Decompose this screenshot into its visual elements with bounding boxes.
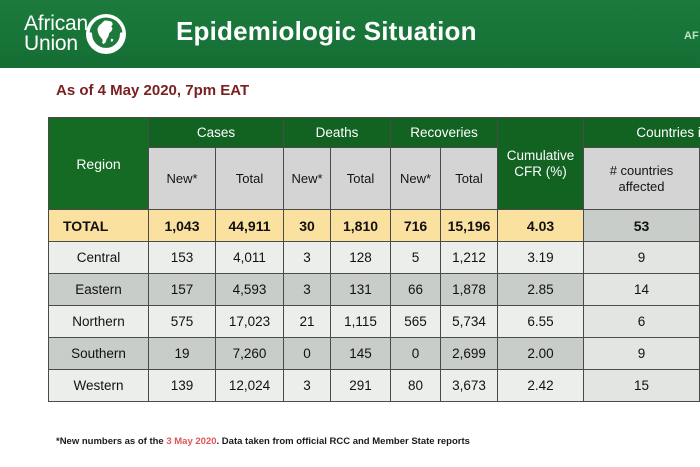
cell-recoveries-total: 15,196 <box>441 210 498 242</box>
africa-map-emblem-icon <box>84 12 128 56</box>
table-footnote: *New numbers as of the 3 May 2020. Data … <box>56 436 470 447</box>
cell-cfr: 2.00 <box>498 338 584 370</box>
cell-recoveries-total: 1,878 <box>441 274 498 306</box>
table-row[interactable]: Northern57517,023211,1155655,7346.556 <box>49 306 700 338</box>
cell-countries-affected: 53 <box>584 210 700 242</box>
cell-countries-affected: 14 <box>584 274 700 306</box>
col-header-recoveries-total: Total <box>441 148 498 210</box>
cell-cases-new: 139 <box>149 370 216 402</box>
cell-cfr: 2.85 <box>498 274 584 306</box>
cell-deaths-total: 145 <box>331 338 391 370</box>
african-union-logo: African Union <box>24 10 128 58</box>
cell-deaths-total: 128 <box>331 242 391 274</box>
cell-cases-total: 44,911 <box>216 210 284 242</box>
cell-region: Southern <box>49 338 149 370</box>
col-group-header-recoveries: Recoveries <box>391 118 498 148</box>
footnote-highlight-date: 3 May 2020 <box>166 436 216 447</box>
table-group-header-row: Region Cases Deaths Recoveries Cumulativ… <box>49 118 700 148</box>
table-row[interactable]: Western13912,0243291803,6732.4215 <box>49 370 700 402</box>
cell-deaths-new: 30 <box>284 210 331 242</box>
cell-recoveries-new: 80 <box>391 370 441 402</box>
table-row[interactable]: Eastern1574,5933131661,8782.8514 <box>49 274 700 306</box>
cell-cases-total: 7,260 <box>216 338 284 370</box>
cell-region: TOTAL <box>49 210 149 242</box>
col-header-deaths-total: Total <box>331 148 391 210</box>
cell-recoveries-new: 66 <box>391 274 441 306</box>
cell-recoveries-new: 716 <box>391 210 441 242</box>
col-header-cases-total: Total <box>216 148 284 210</box>
col-header-deaths-new: New* <box>284 148 331 210</box>
table-body: TOTAL1,04344,911301,81071615,1964.0353Ce… <box>49 210 700 402</box>
cell-deaths-new: 21 <box>284 306 331 338</box>
cell-region: Eastern <box>49 274 149 306</box>
cell-cases-new: 1,043 <box>149 210 216 242</box>
header-right-partial-text: AF <box>684 30 699 42</box>
cell-recoveries-new: 0 <box>391 338 441 370</box>
cell-deaths-total: 131 <box>331 274 391 306</box>
cell-cases-total: 4,011 <box>216 242 284 274</box>
logo-line-union: Union <box>24 34 88 54</box>
cell-deaths-new: 3 <box>284 370 331 402</box>
cell-recoveries-new: 5 <box>391 242 441 274</box>
cell-cfr: 3.19 <box>498 242 584 274</box>
cell-deaths-new: 3 <box>284 274 331 306</box>
cell-countries-affected: 15 <box>584 370 700 402</box>
cell-cfr: 4.03 <box>498 210 584 242</box>
cell-region: Western <box>49 370 149 402</box>
col-header-cumulative-cfr: Cumulative CFR (%) <box>498 118 584 210</box>
as-of-date-label: As of 4 May 2020, 7pm EAT <box>56 82 249 99</box>
col-header-countries-affected: # countries affected <box>584 148 700 210</box>
cell-recoveries-total: 1,212 <box>441 242 498 274</box>
table-row[interactable]: Southern197,260014502,6992.009 <box>49 338 700 370</box>
cell-cases-total: 4,593 <box>216 274 284 306</box>
cell-countries-affected: 6 <box>584 306 700 338</box>
cell-cases-new: 19 <box>149 338 216 370</box>
cell-cases-new: 575 <box>149 306 216 338</box>
table-row[interactable]: TOTAL1,04344,911301,81071615,1964.0353 <box>49 210 700 242</box>
cell-cases-new: 153 <box>149 242 216 274</box>
col-group-header-deaths: Deaths <box>284 118 391 148</box>
col-group-header-cases: Cases <box>149 118 284 148</box>
cell-deaths-total: 291 <box>331 370 391 402</box>
african-union-wordmark: African Union <box>24 14 88 54</box>
cell-countries-affected: 9 <box>584 242 700 274</box>
col-group-header-countries-in-each-region: Countries in e <box>584 118 700 148</box>
cell-recoveries-total: 5,734 <box>441 306 498 338</box>
cell-cfr: 6.55 <box>498 306 584 338</box>
cell-recoveries-new: 565 <box>391 306 441 338</box>
cell-recoveries-total: 2,699 <box>441 338 498 370</box>
countries-affected-line2: affected <box>584 179 699 195</box>
col-header-region: Region <box>49 118 149 210</box>
col-header-cases-new: New* <box>149 148 216 210</box>
cell-region: Northern <box>49 306 149 338</box>
cell-region: Central <box>49 242 149 274</box>
cell-recoveries-total: 3,673 <box>441 370 498 402</box>
cell-cases-total: 17,023 <box>216 306 284 338</box>
col-header-recoveries-new: New* <box>391 148 441 210</box>
cell-deaths-total: 1,115 <box>331 306 391 338</box>
cell-cases-total: 12,024 <box>216 370 284 402</box>
cell-countries-affected: 9 <box>584 338 700 370</box>
logo-line-african: African <box>24 14 88 34</box>
cell-deaths-new: 0 <box>284 338 331 370</box>
cell-deaths-new: 3 <box>284 242 331 274</box>
cfr-header-line2: CFR (%) <box>498 164 583 180</box>
footnote-part2: . Data taken from official RCC and Membe… <box>217 436 470 447</box>
footnote-part1: *New numbers as of the <box>56 436 166 447</box>
cell-deaths-total: 1,810 <box>331 210 391 242</box>
page-title: Epidemiologic Situation <box>176 16 477 47</box>
cell-cases-new: 157 <box>149 274 216 306</box>
cell-cfr: 2.42 <box>498 370 584 402</box>
page-header: African Union Epidemiologic Situation AF <box>0 0 700 68</box>
countries-affected-line1: # countries <box>584 163 699 179</box>
cfr-header-line1: Cumulative <box>498 148 583 164</box>
table-row[interactable]: Central1534,011312851,2123.199 <box>49 242 700 274</box>
epidemiologic-table-container: Region Cases Deaths Recoveries Cumulativ… <box>48 117 700 402</box>
epidemiologic-table: Region Cases Deaths Recoveries Cumulativ… <box>48 117 700 402</box>
